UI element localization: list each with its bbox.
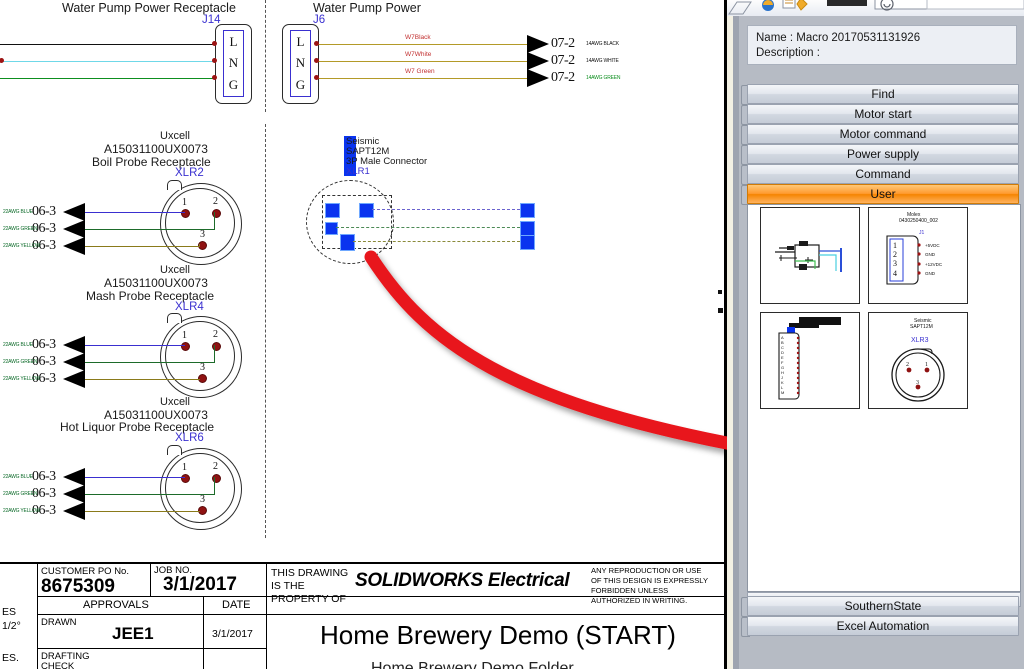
- thumbnail-terminal-block[interactable]: ABC DEF GHJ KLM: [760, 312, 860, 409]
- svg-text:+5VDC: +5VDC: [925, 243, 940, 248]
- legal-line: FORBIDDEN UNLESS: [591, 586, 668, 595]
- title-block[interactable]: ES 1/2° ES. CUSTOMER PO No. 8675309 JOB …: [0, 562, 727, 669]
- xlr1-pin-4[interactable]: [340, 234, 355, 251]
- xlr-pin-number: 1: [182, 462, 187, 473]
- wire-j6-white[interactable]: [317, 61, 527, 62]
- receptacle-xlr2-part: A15031100UX0073: [104, 142, 208, 156]
- group-label: Motor command: [840, 127, 927, 141]
- wire-xlr6-green-v: [214, 477, 215, 494]
- xlr-pin-number: 1: [182, 330, 187, 341]
- xref-arrow: [527, 35, 549, 53]
- sidebar-group-command[interactable]: Command: [747, 164, 1019, 184]
- wire-xlr6-yellow[interactable]: [85, 511, 200, 512]
- xlr1-terminal-2[interactable]: [520, 221, 535, 236]
- wire-junction: [212, 41, 217, 46]
- xref-arrow: [63, 485, 85, 503]
- property-line: THIS DRAWING: [271, 567, 348, 579]
- group-label: Excel Automation: [837, 619, 930, 633]
- xref-note: 14AWG BLACK: [586, 41, 619, 47]
- xref-note: 22AWG GREEN: [3, 226, 37, 232]
- receptacle-xlr4-mfr: Uxcell: [160, 264, 190, 276]
- sidebar-group-find[interactable]: Find: [747, 84, 1019, 104]
- group-label: Command: [855, 167, 910, 181]
- wire-label-white: W7White: [405, 51, 431, 58]
- thumbnail-schematic-preview: [761, 208, 859, 303]
- drawing-canvas[interactable]: Water Pump Power Receptacle J14 L N G Wa…: [0, 0, 727, 669]
- thumbnail-molex[interactable]: Molex 0430250400_002 J1 1 2 3 4 +5VDC GN…: [868, 207, 968, 304]
- xref-note: 22AWG YELLOW: [3, 508, 40, 514]
- connector-j6-title: Water Pump Power: [313, 1, 421, 15]
- sidebar-group-southernstate[interactable]: SouthernState: [747, 596, 1019, 616]
- xlr-pin-number: 2: [213, 461, 218, 472]
- xref-arrow: [63, 237, 85, 255]
- xlr1-tag: XLR1: [346, 166, 370, 177]
- svg-text:2: 2: [906, 362, 909, 368]
- sidebar-group-motor-command[interactable]: Motor command: [747, 124, 1019, 144]
- legal-line: OF THIS DESIGN IS EXPRESSLY: [591, 576, 708, 585]
- property-line: PROPERTY OF: [271, 593, 346, 605]
- wire-xlr2-blue[interactable]: [85, 212, 185, 213]
- xref-note: 14AWG GREEN: [586, 75, 620, 81]
- xref-arrow: [63, 370, 85, 388]
- wire-xlr2-yellow-v: [199, 244, 200, 246]
- thumbnail-xlr3-part: SAPT12M: [910, 324, 933, 330]
- svg-text:3: 3: [893, 259, 897, 268]
- xref-note: 22AWG YELLOW: [3, 243, 40, 249]
- svg-text:3: 3: [916, 380, 919, 386]
- xref-note: 14AWG WHITE: [586, 58, 619, 64]
- xref-note: 22AWG YELLOW: [3, 376, 40, 382]
- wire-xlr4-green-v: [214, 345, 215, 362]
- margin-note: 1/2°: [2, 620, 21, 632]
- wire-xlr6-green[interactable]: [85, 494, 215, 495]
- wire-junction: [314, 75, 319, 80]
- xlr-pin-1[interactable]: [181, 474, 190, 483]
- xref-arrow: [63, 220, 85, 238]
- wire-xlr1-yellow[interactable]: [353, 241, 520, 242]
- receptacle-xlr4-body[interactable]: 1 2 3: [160, 316, 240, 396]
- wire-xlr4-blue[interactable]: [85, 345, 185, 346]
- drawn-date[interactable]: 3/1/2017: [212, 628, 253, 640]
- xlr-pin-number: 3: [200, 362, 205, 373]
- pin-label: N: [296, 55, 305, 71]
- pin-label: N: [229, 55, 238, 71]
- wire-xlr1-green[interactable]: [336, 227, 520, 228]
- group-label: Find: [871, 87, 894, 101]
- project-subtitle[interactable]: Home Brewery Demo Folder: [371, 660, 574, 669]
- legal-line: ANY REPRODUCTION OR USE: [591, 566, 701, 575]
- xref-arrow: [63, 203, 85, 221]
- xref-arrow: [63, 336, 85, 354]
- drawn-label: DRAWN: [41, 617, 77, 628]
- svg-text:GND: GND: [925, 271, 936, 276]
- sidebar-group-user[interactable]: User: [747, 184, 1019, 204]
- pin-label: L: [230, 34, 238, 50]
- legal-line: AUTHORIZED IN WRITING.: [591, 596, 687, 605]
- receptacle-xlr6-mfr: Uxcell: [160, 396, 190, 408]
- connector-j6-pins: L N G: [290, 30, 311, 97]
- xlr-pin-number: 1: [182, 197, 187, 208]
- group-label: SouthernState: [845, 599, 922, 613]
- receptacle-xlr6-body[interactable]: 1 2 3: [160, 448, 240, 528]
- xref-label[interactable]: 07-2: [551, 70, 575, 86]
- wire-xlr4-green[interactable]: [85, 362, 215, 363]
- wire-junction: [212, 58, 217, 63]
- svg-text:1: 1: [925, 362, 928, 368]
- page-divider: [265, 0, 266, 112]
- xlr-pin-number: 2: [213, 196, 218, 207]
- page-divider: [265, 124, 266, 538]
- thumbnail-terminal-block-preview: ABC DEF GHJ KLM: [761, 313, 859, 408]
- xlr1-pin-2[interactable]: [359, 203, 374, 218]
- xlr1-pin-1[interactable]: [325, 203, 340, 218]
- xlr-keyway: [167, 313, 182, 323]
- thumbnail-schematic[interactable]: [760, 207, 860, 304]
- wire-xlr2-yellow[interactable]: [85, 246, 200, 247]
- svg-text:+12VDC: +12VDC: [925, 262, 943, 267]
- wire-junction: [314, 58, 319, 63]
- xlr-keyway: [167, 445, 182, 455]
- sidebar-group-motor-start[interactable]: Motor start: [747, 104, 1019, 124]
- wire-j14-g[interactable]: [0, 78, 215, 79]
- thumbnail-molex-tag: J1: [919, 230, 924, 236]
- macro-palette-sidebar[interactable]: Name : Macro 20170531131926 Description …: [727, 0, 1024, 669]
- macro-info-box: Name : Macro 20170531131926 Description …: [747, 25, 1017, 65]
- wire-xlr2-green-v: [214, 212, 215, 229]
- sidebar-group-power-supply[interactable]: Power supply: [747, 144, 1019, 164]
- customer-po-value[interactable]: 8675309: [41, 576, 115, 598]
- xref-arrow: [63, 502, 85, 520]
- svg-text:GND: GND: [925, 252, 936, 257]
- wire-junction: [314, 41, 319, 46]
- application-window: Water Pump Power Receptacle J14 L N G Wa…: [0, 0, 1024, 669]
- receptacle-xlr2-body[interactable]: 1 2 3: [160, 183, 240, 263]
- xref-label[interactable]: 07-2: [551, 36, 575, 52]
- wire-xlr2-green[interactable]: [85, 229, 215, 230]
- drawn-value[interactable]: JEE1: [112, 624, 154, 644]
- xlr-pin-1[interactable]: [181, 209, 190, 218]
- pin-label: G: [296, 77, 305, 93]
- sidebar-toolbar[interactable]: [727, 0, 1024, 17]
- connector-j14-pins: L N G: [223, 30, 244, 97]
- wire-j6-black[interactable]: [317, 44, 527, 45]
- xref-label[interactable]: 07-2: [551, 53, 575, 69]
- wire-xlr4-yellow[interactable]: [85, 379, 200, 380]
- xref-note: 22AWG BLUE: [3, 342, 33, 348]
- pin-label: L: [297, 34, 305, 50]
- wire-j14-n[interactable]: [0, 61, 215, 62]
- xref-label[interactable]: 06-3: [32, 204, 56, 220]
- xref-label[interactable]: 06-3: [32, 337, 56, 353]
- wire-junction: [212, 75, 217, 80]
- xref-label[interactable]: 06-3: [32, 469, 56, 485]
- svg-text:1: 1: [893, 241, 897, 250]
- job-no-value[interactable]: 3/1/2017: [163, 574, 237, 596]
- svg-text:4: 4: [893, 269, 897, 278]
- receptacle-xlr6-tag: XLR6: [175, 432, 204, 444]
- brand-logo: SOLIDWORKS Electrical: [355, 570, 569, 592]
- receptacle-xlr2-tag: XLR2: [175, 167, 204, 179]
- xref-note: 22AWG BLUE: [3, 209, 33, 215]
- receptacle-xlr4-part: A15031100UX0073: [104, 276, 208, 290]
- group-label: Power supply: [847, 147, 919, 161]
- xlr-pin-number: 3: [200, 494, 205, 505]
- xlr-pin-number: 3: [200, 229, 205, 240]
- sidebar-group-excel-automation[interactable]: Excel Automation: [747, 616, 1019, 636]
- svg-text:M: M: [781, 390, 784, 395]
- pin-label: G: [229, 77, 238, 93]
- group-label: Motor start: [854, 107, 911, 121]
- project-title[interactable]: Home Brewery Demo (START): [320, 620, 676, 651]
- xlr1-pin-3[interactable]: [325, 222, 338, 235]
- wire-label-green: W7 Green: [405, 68, 435, 75]
- xref-arrow: [527, 52, 549, 70]
- xref-arrow: [63, 468, 85, 486]
- group-label: User: [870, 187, 895, 201]
- approvals-label: APPROVALS: [83, 599, 149, 611]
- margin-note: ES.: [2, 652, 19, 664]
- svg-text:2: 2: [893, 250, 897, 259]
- wire-xlr1-blue[interactable]: [372, 209, 520, 210]
- connector-j14-title: Water Pump Power Receptacle: [62, 1, 236, 15]
- thumbnail-seismic-xlr3[interactable]: Seismic SAPT12M XLR3 2 1 3: [868, 312, 968, 409]
- xref-note: 22AWG GREEN: [3, 359, 37, 365]
- wire-xlr6-blue[interactable]: [85, 477, 185, 478]
- macro-name: Name : Macro 20170531131926: [756, 31, 1008, 46]
- wire-j14-l[interactable]: [0, 44, 215, 45]
- thumbnail-molex-part: 0430250400_002: [899, 218, 938, 224]
- xref-note: 22AWG GREEN: [3, 491, 37, 497]
- margin-note: ES: [2, 606, 16, 618]
- receptacle-xlr4-tag: XLR4: [175, 301, 204, 313]
- wire-j6-green[interactable]: [317, 78, 527, 79]
- xref-note: 22AWG BLUE: [3, 474, 33, 480]
- xref-arrow: [527, 69, 549, 87]
- thumbnail-xlr3-tag: XLR3: [911, 338, 929, 344]
- drafting-label-2: CHECK: [41, 661, 74, 669]
- xlr-keyway: [167, 180, 182, 190]
- page-border-tick: [718, 308, 723, 313]
- wire-label-black: W7Black: [405, 34, 431, 41]
- xlr-pin-number: 2: [213, 329, 218, 340]
- property-line: IS THE: [271, 580, 305, 592]
- receptacle-xlr2-mfr: Uxcell: [160, 130, 190, 142]
- xlr-pin-1[interactable]: [181, 342, 190, 351]
- toolbar-icons: [727, 0, 1024, 16]
- date-label: DATE: [222, 599, 251, 611]
- xlr1-terminal-3[interactable]: [520, 235, 535, 250]
- page-border-tick: [718, 290, 722, 294]
- xlr1-terminal-1[interactable]: [520, 203, 535, 218]
- macro-description: Description :: [756, 46, 1008, 61]
- xref-arrow: [63, 353, 85, 371]
- wire-junction: [0, 58, 4, 63]
